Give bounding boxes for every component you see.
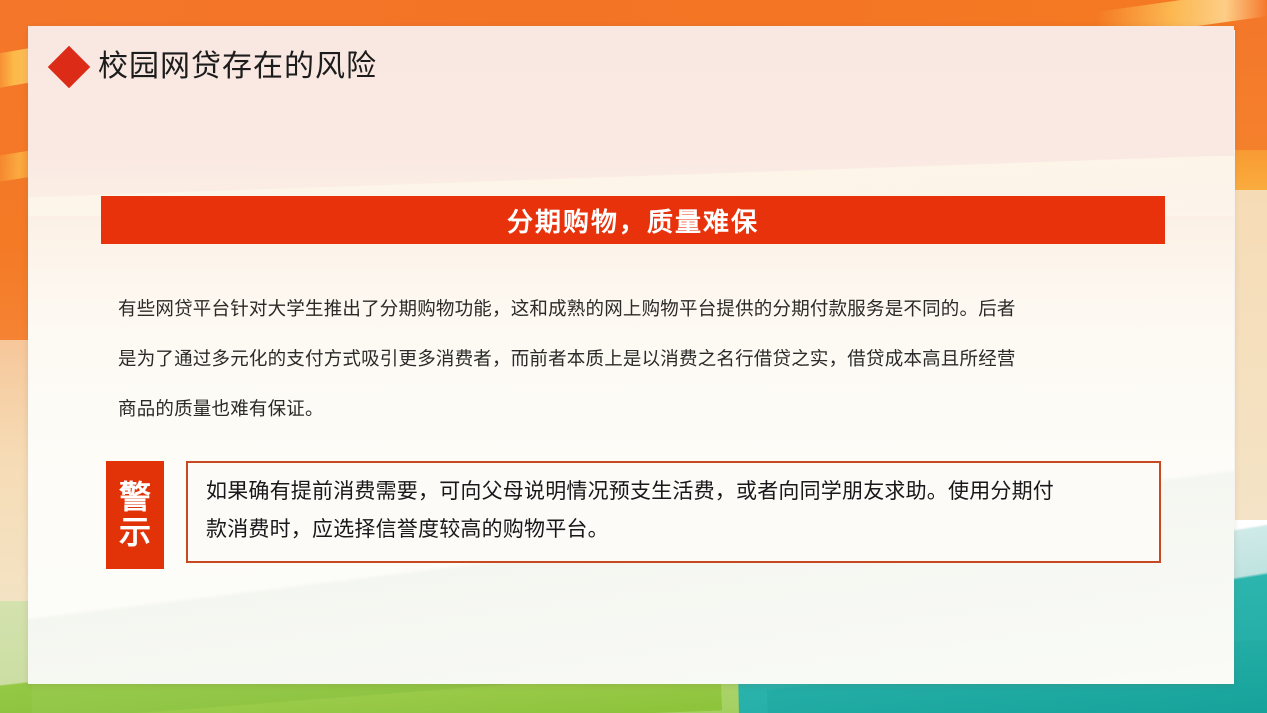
body-paragraph: 有些网贷平台针对大学生推出了分期购物功能，这和成熟的网上购物平台提供的分期付款服…: [118, 284, 1160, 434]
warning-badge: 警 示: [106, 461, 164, 569]
warning-text-box: 如果确有提前消费需要，可向父母说明情况预支生活费，或者向同学朋友求助。使用分期付…: [186, 461, 1161, 563]
paragraph-line: 商品的质量也难有保证。: [118, 384, 1160, 434]
paragraph-line: 是为了通过多元化的支付方式吸引更多消费者，而前者本质上是以消费之名行借贷之实，借…: [118, 334, 1160, 384]
warning-badge-char-1: 警: [119, 480, 151, 515]
page-header: 校园网贷存在的风险: [54, 52, 377, 82]
paragraph-line: 有些网贷平台针对大学生推出了分期购物功能，这和成熟的网上购物平台提供的分期付款服…: [118, 284, 1160, 334]
decoration-orange-right-band: [1235, 0, 1267, 160]
content-card: 校园网贷存在的风险 分期购物，质量难保 有些网贷平台针对大学生推出了分期购物功能…: [28, 26, 1234, 684]
slide-canvas: 校园网贷存在的风险 分期购物，质量难保 有些网贷平台针对大学生推出了分期购物功能…: [0, 0, 1267, 713]
section-banner-label: 分期购物，质量难保: [507, 202, 759, 239]
section-banner: 分期购物，质量难保: [101, 196, 1165, 244]
warning-block: 警 示 如果确有提前消费需要，可向父母说明情况预支生活费，或者向同学朋友求助。使…: [106, 461, 1161, 569]
warning-badge-char-2: 示: [119, 515, 151, 550]
page-title: 校园网贷存在的风险: [98, 52, 377, 82]
diamond-icon: [48, 46, 90, 88]
warning-line: 如果确有提前消费需要，可向父母说明情况预支生活费，或者向同学朋友求助。使用分期付: [206, 473, 1143, 511]
warning-line: 款消费时，应选择信誉度较高的购物平台。: [206, 511, 1143, 549]
decoration-tan-right-band: [1235, 190, 1267, 520]
